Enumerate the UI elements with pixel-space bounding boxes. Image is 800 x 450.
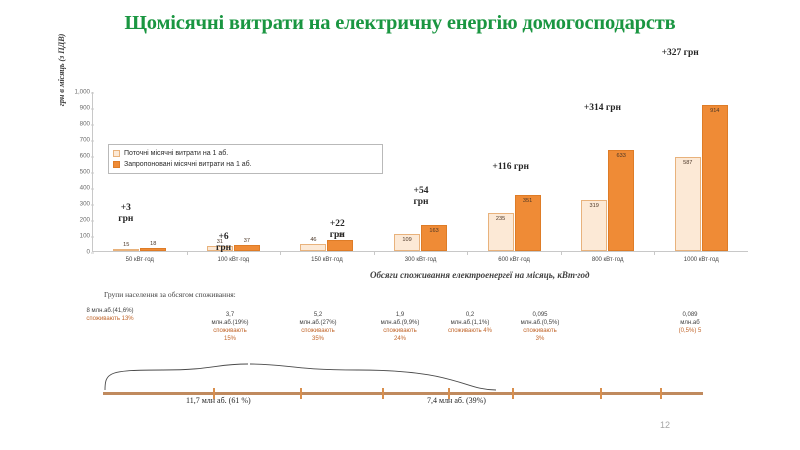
bar-value-label: 15 xyxy=(123,242,129,248)
group-amount: 5,2 xyxy=(299,312,336,320)
group-consume: споживають xyxy=(521,328,560,336)
y-tick-500: 500 xyxy=(60,169,90,176)
delta-annotation: +116 грн xyxy=(492,162,529,173)
population-axis-line xyxy=(103,392,703,395)
chart-container: грн в місяць (з ПДВ) 0100200300400500600… xyxy=(58,92,748,272)
group-consume: (0,5%) 5 xyxy=(679,328,702,336)
group-amount: 8 млн.аб.(41,6%) xyxy=(86,308,133,316)
delta-annotation: +3грн xyxy=(118,203,133,225)
group-amount: млн.аб.(1,1%) xyxy=(448,320,492,328)
legend-swatch-current xyxy=(113,150,120,157)
bar-current: 587 xyxy=(675,157,701,251)
y-tick-200: 200 xyxy=(60,217,90,224)
legend-item-current: Поточні місячні витрати на 1 аб. xyxy=(113,148,378,159)
legend-item-proposed: Запропоновані місячні витрати на 1 аб. xyxy=(113,159,378,170)
bar-value-label: 163 xyxy=(429,228,438,234)
y-axis-label: грн в місяць (з ПДВ) xyxy=(56,6,70,134)
legend-swatch-proposed xyxy=(113,161,120,168)
x-tick-label: 1000 кВт·год xyxy=(684,257,719,263)
x-tick-label: 600 кВт·год xyxy=(498,257,530,263)
x-tick-label: 100 кВт·год xyxy=(218,257,250,263)
group-amount: 1,9 xyxy=(381,312,420,320)
bar-group: 319633800 кВт·год xyxy=(561,92,655,251)
y-tick-1000: 1,000 xyxy=(60,89,90,96)
bar-proposed: 68 xyxy=(327,240,353,251)
bar-value-label: 914 xyxy=(710,108,719,114)
group-consume: 24% xyxy=(381,336,420,344)
group-amount: 0,089 xyxy=(679,312,702,320)
group-amount: 0,2 xyxy=(448,312,492,320)
chart-legend: Поточні місячні витрати на 1 аб. Запропо… xyxy=(108,144,383,174)
group-consume: споживають xyxy=(381,328,420,336)
bar-current: 15 xyxy=(113,249,139,251)
population-group: 0,095млн.аб.(0,5%)споживають3% xyxy=(521,312,560,344)
y-tick-300: 300 xyxy=(60,201,90,208)
bar-proposed: 37 xyxy=(234,245,260,251)
bracket-right xyxy=(248,362,718,392)
population-groups-heading: Групи населення за обсягом споживання: xyxy=(104,290,236,299)
delta-annotation: +327 грн xyxy=(662,48,699,59)
group-amount: млн.аб.(9,9%) xyxy=(381,320,420,328)
delta-annotation: +6грн xyxy=(216,232,231,254)
bar-current: 109 xyxy=(394,234,420,251)
bar-value-label: 109 xyxy=(402,237,411,243)
bar-value-label: 46 xyxy=(310,237,316,243)
bar-value-label: 319 xyxy=(590,203,599,209)
x-tick-label: 300 кВт·год xyxy=(405,257,437,263)
bar-proposed: 633 xyxy=(608,150,634,251)
bar-value-label: 37 xyxy=(244,238,250,244)
bar-proposed: 914 xyxy=(702,105,728,251)
population-group: 8 млн.аб.(41,6%)споживають 13% xyxy=(86,308,133,324)
y-tick-100: 100 xyxy=(60,233,90,240)
group-amount: млн.аб.(0,5%) xyxy=(521,320,560,328)
population-group: 5,2млн.аб.(27%)споживають35% xyxy=(299,312,336,344)
y-tick-700: 700 xyxy=(60,137,90,144)
y-tick-0: 0 xyxy=(60,249,90,256)
group-consume: споживають 13% xyxy=(86,316,133,324)
bar-current: 46 xyxy=(300,244,326,251)
bar-value-label: 235 xyxy=(496,216,505,222)
x-tick-label: 150 кВт·год xyxy=(311,257,343,263)
y-tick-900: 900 xyxy=(60,105,90,112)
bar-proposed: 351 xyxy=(515,195,541,251)
x-tick-label: 50 кВт·год xyxy=(126,257,154,263)
legend-label-current: Поточні місячні витрати на 1 аб. xyxy=(124,150,228,157)
bar-group: 5879141000 кВт·год xyxy=(654,92,748,251)
delta-annotation: +314 грн xyxy=(584,103,621,114)
population-group: 3,7млн.аб.(19%)споживають15% xyxy=(211,312,248,344)
slide-root: Щомісячні витрати на електричну енергію … xyxy=(0,0,800,450)
y-tick-400: 400 xyxy=(60,185,90,192)
group-amount: 3,7 xyxy=(211,312,248,320)
bracket-label-right: 7,4 млн аб. (39%) xyxy=(427,396,486,405)
bar-current: 319 xyxy=(581,200,607,251)
group-consume: споживають xyxy=(299,328,336,336)
group-amount: млн.аб.(19%) xyxy=(211,320,248,328)
y-tick-800: 800 xyxy=(60,121,90,128)
bar-value-label: 587 xyxy=(683,160,692,166)
population-group: 1,9млн.аб.(9,9%)споживають24% xyxy=(381,312,420,344)
bracket-label-left: 11,7 млн аб. (61 %) xyxy=(186,396,251,405)
page-number: 12 xyxy=(660,420,670,430)
x-tick-label: 800 кВт·год xyxy=(592,257,624,263)
bar-proposed: 18 xyxy=(140,248,166,251)
group-consume: споживають xyxy=(211,328,248,336)
population-group: 0,2млн.аб.(1,1%)споживають 4% xyxy=(448,312,492,336)
group-amount: млн.аб.(27%) xyxy=(299,320,336,328)
group-consume: 3% xyxy=(521,336,560,344)
bar-proposed: 163 xyxy=(421,225,447,251)
page-title: Щомісячні витрати на електричну енергію … xyxy=(90,10,710,36)
bar-value-label: 18 xyxy=(150,241,156,247)
x-axis-label: Обсяги споживання електроенергеї на міся… xyxy=(370,270,589,280)
bar-current: 235 xyxy=(488,213,514,251)
group-consume: 35% xyxy=(299,336,336,344)
y-tick-600: 600 xyxy=(60,153,90,160)
group-consume: споживають 4% xyxy=(448,328,492,336)
group-amount: 0,095 xyxy=(521,312,560,320)
bar-group: 109163300 кВт·год xyxy=(374,92,468,251)
population-group: 0,089млн.аб(0,5%) 5 xyxy=(679,312,702,336)
bar-value-label: 351 xyxy=(523,198,532,204)
delta-annotation: +22грн xyxy=(330,219,345,241)
group-consume: 15% xyxy=(211,336,248,344)
group-amount: млн.аб xyxy=(679,320,702,328)
bar-value-label: 633 xyxy=(617,153,626,159)
delta-annotation: +54грн xyxy=(413,186,428,208)
legend-label-proposed: Запропоновані місячні витрати на 1 аб. xyxy=(124,161,252,168)
